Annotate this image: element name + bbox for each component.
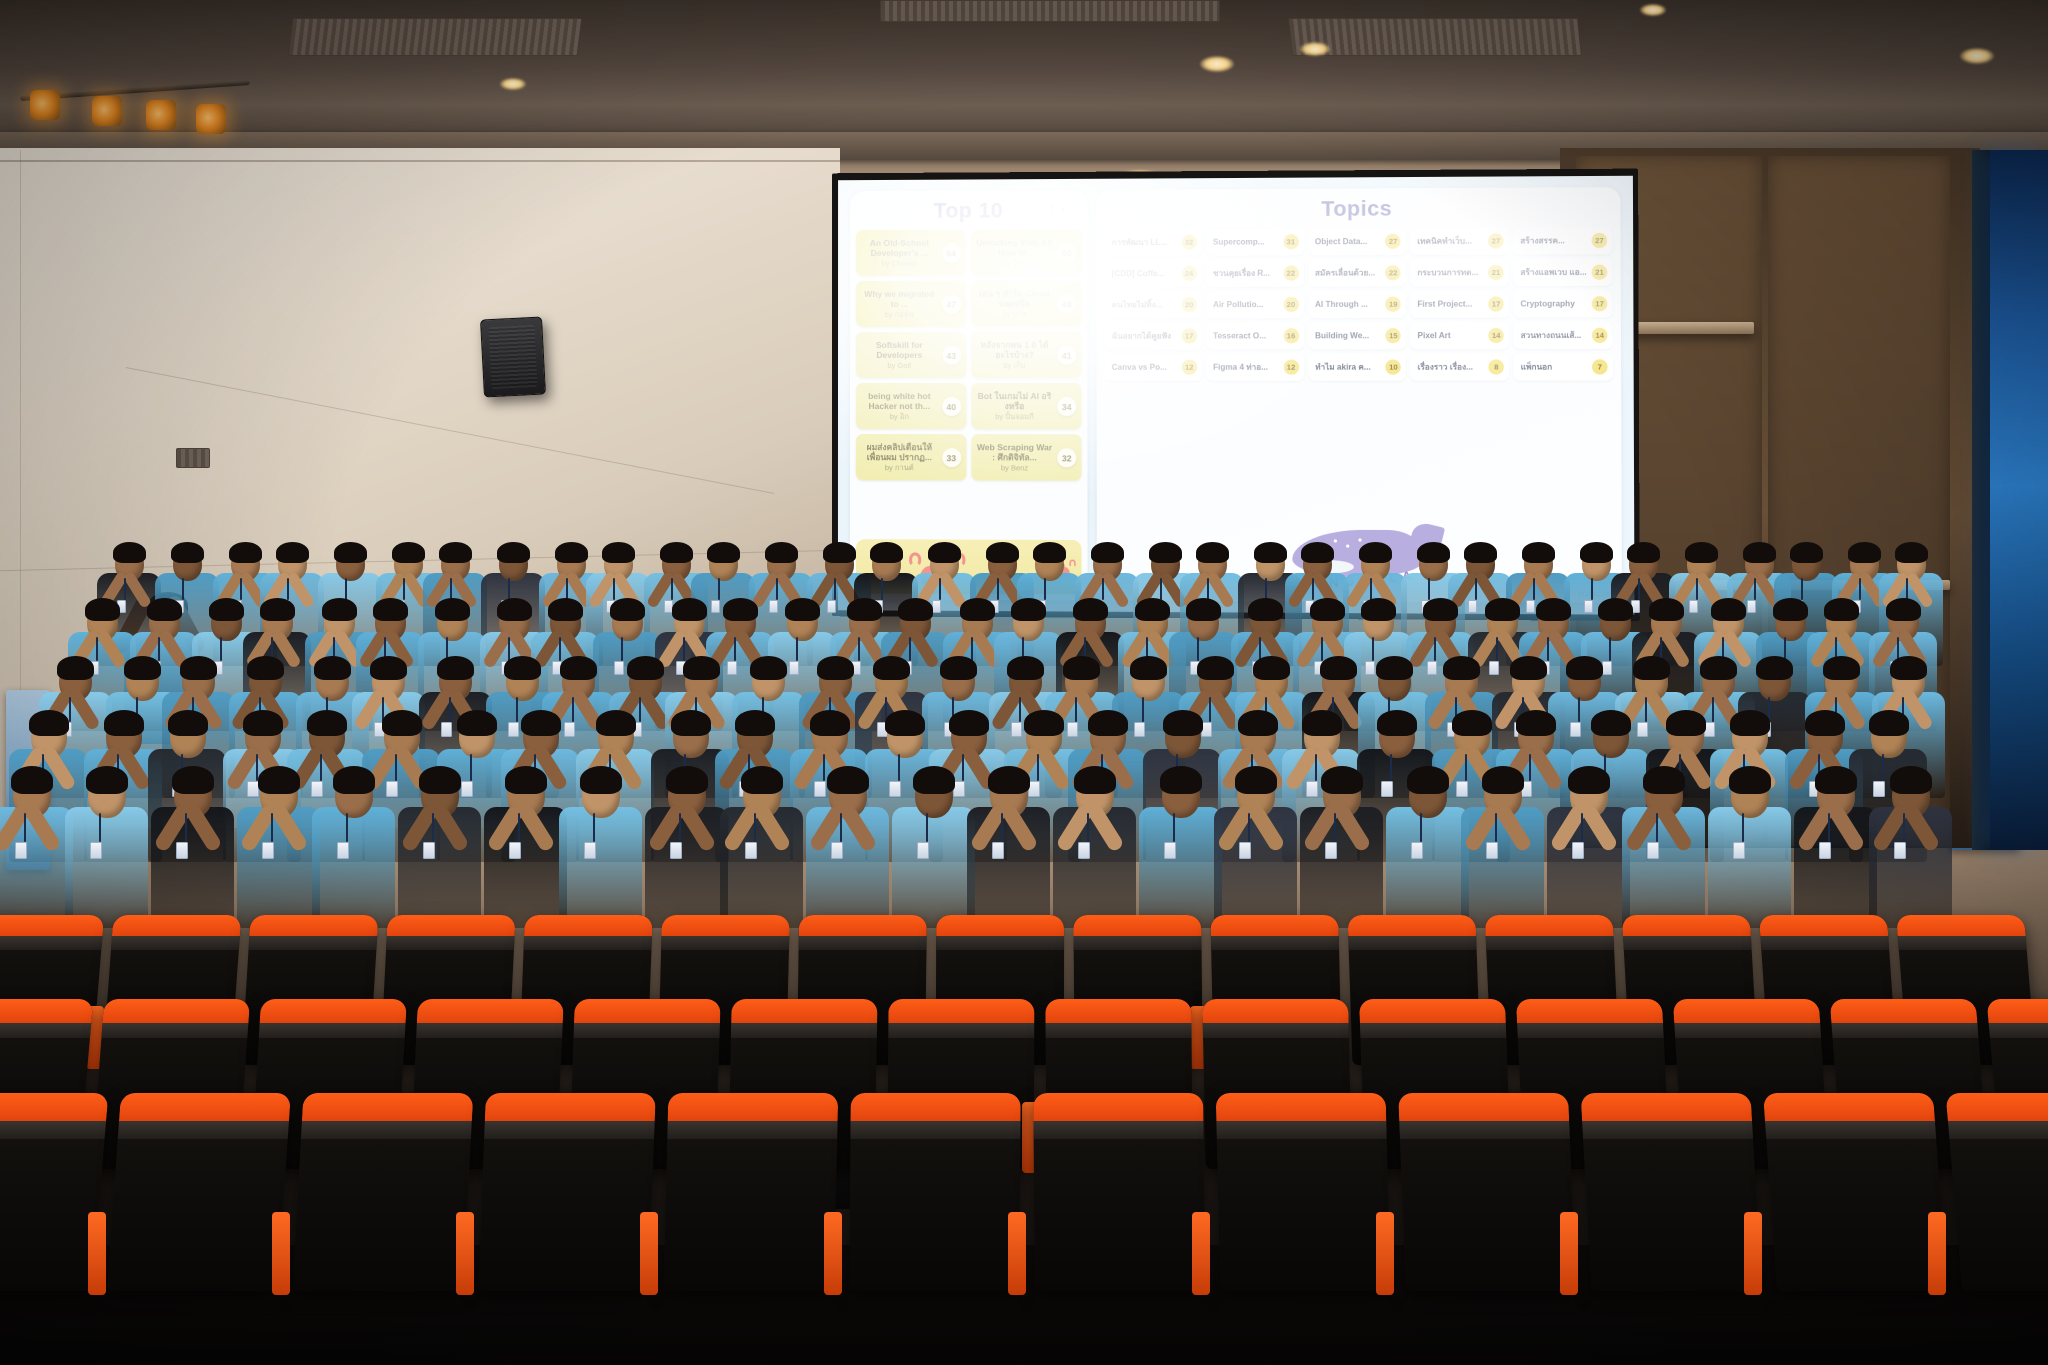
ceiling-grill-center <box>880 0 1220 22</box>
topic-chip[interactable]: Pixel Art14 <box>1410 322 1509 350</box>
lanyard <box>320 754 322 781</box>
hair <box>322 598 357 621</box>
hair <box>147 598 182 621</box>
lanyard <box>1334 813 1336 842</box>
topic-count: 17 <box>1488 296 1504 311</box>
topic-count: 17 <box>1182 328 1197 343</box>
topic-count: 27 <box>1385 234 1400 249</box>
auditorium-seat[interactable] <box>849 1093 1020 1291</box>
hair <box>1359 542 1392 563</box>
topic-chip[interactable]: สร้างแอพเวบ แอ...21 <box>1513 258 1612 286</box>
hair <box>666 766 708 794</box>
lanyard <box>1828 813 1830 842</box>
auditorium-seat[interactable] <box>1216 1093 1391 1291</box>
hair <box>1007 656 1044 680</box>
card-author: by Chawin <box>861 260 938 269</box>
hair <box>741 766 783 794</box>
topic-chip[interactable]: สวนทางถนนเส้...14 <box>1513 322 1612 350</box>
card-score: 60 <box>1057 243 1076 262</box>
name-badge <box>814 781 826 797</box>
hair <box>660 542 693 563</box>
lanyard <box>1712 697 1714 722</box>
auditorium-seat[interactable] <box>1945 1093 2048 1291</box>
lanyard <box>1209 697 1211 722</box>
top10-card[interactable]: being white hot Hacker not th... by อิก … <box>856 383 966 429</box>
downlight-icon-6 <box>1640 4 1666 16</box>
lanyard <box>1906 578 1908 600</box>
lanyard <box>671 578 673 600</box>
lanyard <box>1581 813 1583 842</box>
hair <box>437 656 474 680</box>
hair <box>1895 542 1928 563</box>
auditorium-seat[interactable] <box>1398 1093 1576 1291</box>
hair <box>1088 710 1128 736</box>
top10-card-grid: An Old-School Developer's ... by Chawin … <box>850 227 1088 481</box>
hair <box>1536 598 1571 621</box>
hair <box>1301 542 1334 563</box>
auditorium-seat[interactable] <box>664 1093 839 1291</box>
name-badge <box>992 842 1004 859</box>
lanyard <box>1882 754 1884 781</box>
lanyard <box>639 697 641 722</box>
name-badge <box>1468 600 1477 613</box>
seat-armrest <box>1744 1212 1762 1295</box>
topic-count: 27 <box>1592 233 1608 248</box>
topic-chip[interactable]: คนไทยไม่ทิ้ง...20 <box>1105 291 1202 318</box>
topic-chip[interactable]: การพัฒนา LL...32 <box>1104 229 1201 257</box>
hair <box>555 542 588 563</box>
top10-card[interactable]: Web Scraping War : ศึกดิจิทัล... by Benz… <box>971 434 1082 480</box>
topic-chip[interactable]: First Project...17 <box>1410 290 1509 318</box>
hair <box>1063 656 1100 680</box>
lanyard <box>1037 754 1039 781</box>
name-badge <box>932 600 941 613</box>
hair <box>439 542 472 563</box>
hair <box>1633 656 1670 680</box>
ac-vent-right <box>1288 18 1582 56</box>
hair <box>735 710 775 736</box>
name-badge <box>1134 722 1145 737</box>
hair <box>1522 542 1555 563</box>
lanyard <box>1315 754 1317 781</box>
hair <box>1302 710 1342 736</box>
lanyard <box>124 578 126 600</box>
lanyard <box>1390 754 1392 781</box>
lanyard <box>834 578 836 600</box>
card-score: 40 <box>942 397 961 416</box>
lanyard <box>796 637 798 661</box>
hair <box>124 656 161 680</box>
hair <box>1627 542 1660 563</box>
card-title: Softskill for Developers <box>861 340 938 360</box>
card-author: by Golf <box>861 362 938 371</box>
hair <box>1361 598 1396 621</box>
hair <box>334 542 367 563</box>
name-badge <box>1381 781 1393 797</box>
topic-label: เรื่องราว เรื่อง... <box>1418 360 1473 373</box>
name-badge <box>614 661 624 675</box>
topic-count: 17 <box>1592 296 1608 311</box>
spotlight-icon-1 <box>30 90 60 120</box>
name-badge <box>508 722 519 737</box>
name-badge <box>1078 842 1090 859</box>
hair <box>1510 656 1547 680</box>
name-badge <box>1411 842 1423 859</box>
card-title: เล่น ๆ ทำใน Cloud แพงหรือ <box>976 289 1053 309</box>
seat-armrest <box>1928 1212 1946 1295</box>
auditorium-room: Top 10 ↑↓ An Old-School Developer's ... … <box>0 0 2048 1365</box>
hair <box>817 656 854 680</box>
lanyard <box>613 578 615 600</box>
topic-count: 14 <box>1592 328 1608 343</box>
hair <box>307 710 347 736</box>
auditorium-seat[interactable] <box>1763 1093 1947 1291</box>
top10-card[interactable]: Softskill for Developers by Golf 43 <box>856 332 966 378</box>
lanyard <box>1495 813 1497 842</box>
name-badge <box>1894 842 1906 859</box>
top10-card[interactable]: An Old-School Developer's ... by Chawin … <box>856 230 966 276</box>
topic-chip[interactable]: AI Through ...19 <box>1308 291 1406 319</box>
name-badge <box>1647 842 1659 859</box>
hair <box>1886 598 1921 621</box>
wall-seam-4 <box>0 160 840 162</box>
lanyard <box>776 578 778 600</box>
spotlight-icon-3 <box>146 100 176 130</box>
name-badge <box>769 600 778 613</box>
topic-count: 12 <box>1182 360 1197 375</box>
hair <box>504 656 541 680</box>
name-badge <box>1747 600 1756 613</box>
hair <box>29 710 69 736</box>
lanyard <box>1696 578 1698 600</box>
lanyard <box>346 813 348 842</box>
topic-chip[interactable]: Figma 4 ท่าอ...12 <box>1206 354 1304 381</box>
top10-card[interactable]: Unlocking Web 3.0 : How to ... by ใหม่ 6… <box>971 229 1081 276</box>
hair <box>505 766 547 794</box>
hair <box>827 766 869 794</box>
torso <box>1139 807 1222 928</box>
hair <box>1869 710 1909 736</box>
topic-chip[interactable]: Object Data...27 <box>1308 228 1406 256</box>
lanyard <box>962 754 964 781</box>
name-badge <box>917 842 929 859</box>
hair <box>627 656 664 680</box>
hair <box>1163 710 1203 736</box>
topic-chip[interactable]: เทคนิคทำเว็บ...27 <box>1410 227 1509 255</box>
name-badge <box>1637 722 1648 737</box>
hair <box>1598 598 1633 621</box>
lanyard <box>1578 697 1580 722</box>
auditorium-seat[interactable] <box>293 1093 474 1291</box>
hair <box>1377 710 1417 736</box>
hair <box>1254 542 1287 563</box>
seat-armrest <box>88 1212 106 1295</box>
topic-chip[interactable]: เรื่องราว เรื่อง...8 <box>1410 353 1509 381</box>
hair <box>1074 766 1116 794</box>
hair <box>1417 542 1450 563</box>
lanyard <box>734 637 736 661</box>
hair <box>870 542 903 563</box>
hair <box>1756 656 1793 680</box>
card-author: by เก็บ <box>976 362 1053 371</box>
lanyard <box>1645 697 1647 722</box>
lanyard <box>1801 578 1803 600</box>
topic-count: 22 <box>1283 266 1298 281</box>
lanyard <box>1475 578 1477 600</box>
topic-count: 32 <box>1181 235 1196 250</box>
auditorium-seat[interactable] <box>478 1093 656 1291</box>
topic-chip[interactable]: แพ็กนอก7 <box>1513 353 1612 381</box>
lanyard <box>1465 754 1467 781</box>
hair <box>180 656 217 680</box>
topic-label: Canva vs Po... <box>1112 363 1167 372</box>
lanyard <box>1533 578 1535 600</box>
card-author: by กานต์ <box>861 464 938 473</box>
hair <box>1815 766 1857 794</box>
topic-count: 10 <box>1386 359 1401 374</box>
name-badge <box>1365 661 1375 675</box>
topic-chip[interactable]: ฉันอยากได้คูยฟัง17 <box>1105 322 1202 349</box>
lanyard <box>1372 637 1374 661</box>
topic-chip[interactable]: สร้างสรรค...27 <box>1513 227 1612 255</box>
torso <box>892 807 975 928</box>
lanyard <box>518 813 520 842</box>
name-badge <box>1584 600 1593 613</box>
topic-chip[interactable]: กระบวนการทด...21 <box>1410 259 1509 287</box>
card-title: being white hot Hacker not th... <box>861 391 938 411</box>
name-badge <box>441 722 452 737</box>
hair <box>86 766 128 794</box>
lanyard <box>449 697 451 722</box>
hair <box>1443 656 1480 680</box>
topic-label: Air Pollutio... <box>1213 300 1263 309</box>
name-badge <box>1325 842 1337 859</box>
hair <box>113 542 146 563</box>
topic-count: 12 <box>1283 360 1298 375</box>
auditorium-seat[interactable] <box>1581 1093 1762 1291</box>
spotlight-icon-4 <box>196 104 226 134</box>
hair <box>750 656 787 680</box>
hair <box>1011 598 1046 621</box>
top10-card[interactable]: หลังจากพน 1 0 ได้ อะไรบ้าง? by เก็บ 41 <box>971 332 1082 378</box>
name-badge <box>337 842 349 859</box>
lanyard <box>185 813 187 842</box>
lanyard <box>516 697 518 722</box>
hair <box>960 598 995 621</box>
lanyard <box>1638 578 1640 600</box>
lanyard <box>997 578 999 600</box>
name-badge <box>423 842 435 859</box>
auditorium-seat[interactable] <box>1033 1093 1205 1291</box>
hair <box>580 766 622 794</box>
hair <box>168 710 208 736</box>
card-title: Web Scraping War : ศึกดิจิทัล... <box>976 442 1053 462</box>
card-score: 41 <box>1057 346 1076 365</box>
name-badge <box>1486 842 1498 859</box>
name-badge <box>176 842 188 859</box>
name-badge <box>1239 842 1251 859</box>
topic-label: Tesseract O... <box>1213 331 1266 340</box>
sort-arrows-icon[interactable]: ↑↓ <box>1049 203 1073 214</box>
lanyard <box>240 578 242 600</box>
topic-chip[interactable]: [CDD] Coffe...24 <box>1105 260 1202 287</box>
hair <box>1321 766 1363 794</box>
card-score: 64 <box>942 244 961 263</box>
lanyard <box>593 813 595 842</box>
hair <box>765 542 798 563</box>
hair <box>1790 542 1823 563</box>
hair <box>1464 542 1497 563</box>
lanyard <box>345 578 347 600</box>
topic-label: สร้างแอพเวบ แอ... <box>1520 266 1586 279</box>
hair <box>435 598 470 621</box>
hair <box>548 598 583 621</box>
lanyard <box>572 697 574 722</box>
hair <box>1890 766 1932 794</box>
lanyard <box>1075 697 1077 722</box>
hair <box>1197 656 1234 680</box>
topic-label: สมัครเลื่อนด้วย... <box>1315 266 1375 279</box>
topic-count: 21 <box>1592 265 1608 280</box>
hair <box>1580 542 1613 563</box>
topic-label: ชวนคุยเรื่อง R... <box>1213 267 1270 280</box>
topic-label: กระบวนการทด... <box>1417 266 1478 279</box>
lanyard <box>1609 637 1611 661</box>
lanyard <box>939 578 941 600</box>
hair <box>1516 710 1556 736</box>
lanyard <box>450 578 452 600</box>
lanyard <box>1019 697 1021 722</box>
topic-chip[interactable]: สมัครเลื่อนด้วย...22 <box>1308 259 1406 287</box>
hair <box>209 598 244 621</box>
hair <box>370 656 407 680</box>
lanyard <box>1656 813 1658 842</box>
hair <box>1130 656 1167 680</box>
torso <box>65 807 148 928</box>
name-badge <box>262 842 274 859</box>
hair <box>1160 766 1202 794</box>
hair <box>707 542 740 563</box>
hair <box>260 598 295 621</box>
card-score: 34 <box>1057 397 1076 416</box>
name-badge <box>1570 722 1581 737</box>
hair <box>382 710 422 736</box>
lanyard <box>24 813 26 842</box>
lanyard <box>1547 637 1549 661</box>
topic-chip[interactable]: Canva vs Po...12 <box>1105 354 1202 381</box>
name-badge <box>789 661 799 675</box>
hair <box>1773 598 1808 621</box>
hair <box>1700 656 1737 680</box>
topic-chip[interactable]: Tesseract O...16 <box>1206 322 1304 349</box>
hair <box>104 710 144 736</box>
topic-label: ฉันอยากได้คูยฟัง <box>1112 329 1171 342</box>
lanyard <box>1754 578 1756 600</box>
lanyard <box>1428 578 1430 600</box>
topic-label: สวนทางถนนเส้... <box>1521 329 1582 342</box>
card-title: หลังจากพน 1 0 ได้ อะไรบ้าง? <box>976 340 1053 360</box>
name-badge <box>1489 661 1499 675</box>
hair <box>1730 710 1770 736</box>
hair <box>247 656 284 680</box>
hair <box>243 710 283 736</box>
name-badge <box>90 842 102 859</box>
topic-chip[interactable]: Cryptography17 <box>1513 290 1612 318</box>
hair <box>1711 598 1746 621</box>
hair <box>602 542 635 563</box>
lanyard <box>1742 813 1744 842</box>
card-title: Why we migrated to ... <box>861 289 938 309</box>
topic-chip[interactable]: Building We...15 <box>1308 322 1406 350</box>
hair <box>885 710 925 736</box>
name-badge <box>1067 722 1078 737</box>
topic-chip[interactable]: Air Pollutio...20 <box>1206 291 1304 318</box>
card-author: by กอล์ฟ <box>861 311 938 320</box>
top10-card[interactable]: Why we migrated to ... by กอล์ฟ 47 <box>856 281 966 327</box>
torso <box>1708 807 1791 928</box>
name-badge <box>827 600 836 613</box>
hair <box>596 710 636 736</box>
lanyard <box>1529 754 1531 781</box>
name-badge <box>1873 781 1885 797</box>
hair <box>913 766 955 794</box>
topic-chip[interactable]: ทำไม akira ค...10 <box>1308 353 1406 380</box>
seat-armrest <box>640 1212 658 1295</box>
name-badge <box>711 600 720 613</box>
topic-label: [CDD] Coffe... <box>1112 269 1165 278</box>
topic-chip[interactable]: ชวนคุยเรื่อง R...22 <box>1206 259 1304 287</box>
name-badge <box>745 842 757 859</box>
topic-label: Pixel Art <box>1418 331 1451 340</box>
card-title: Bot ในเกมไม่ AI อริงหรือ <box>976 391 1053 411</box>
hair <box>610 598 645 621</box>
top10-card[interactable]: ผมส่งคลิปเดือนให้ เพื่อนผม ปรากฏ... by ก… <box>856 434 966 480</box>
top10-card[interactable]: เล่น ๆ ทำใน Cloud แพงหรือ by บาส 44 <box>971 280 1081 326</box>
lanyard <box>1207 578 1209 600</box>
hair <box>1805 710 1845 736</box>
hair <box>1149 542 1182 563</box>
hair <box>785 598 820 621</box>
torso <box>559 807 642 928</box>
hair <box>1566 656 1603 680</box>
lanyard <box>754 813 756 842</box>
name-badge <box>15 842 27 859</box>
spotlight-icon-2 <box>92 96 122 126</box>
topic-chip[interactable]: Supercomp...31 <box>1206 228 1304 256</box>
downlight-icon-2 <box>1200 56 1234 72</box>
auditorium-seat[interactable] <box>107 1093 291 1291</box>
card-author: by ปั้นจอมกี <box>976 413 1053 422</box>
hair <box>1320 656 1357 680</box>
hair <box>560 656 597 680</box>
lanyard <box>395 754 397 781</box>
name-badge <box>311 781 323 797</box>
card-score: 43 <box>942 346 961 365</box>
topic-label: First Project... <box>1417 299 1472 308</box>
hair <box>1643 766 1685 794</box>
hair <box>1848 542 1881 563</box>
lanyard <box>1496 637 1498 661</box>
lanyard <box>1248 813 1250 842</box>
top10-card[interactable]: Bot ในเกมไม่ AI อริงหรือ by ปั้นจอมกี 34 <box>971 383 1082 429</box>
screenshot-root: Top 10 ↑↓ An Old-School Developer's ... … <box>0 0 2048 1365</box>
hair <box>333 766 375 794</box>
lanyard <box>1265 578 1267 600</box>
hair <box>810 710 850 736</box>
topic-count: 19 <box>1386 297 1401 312</box>
torso <box>1386 807 1469 928</box>
downlight-icon-1 <box>500 78 526 90</box>
